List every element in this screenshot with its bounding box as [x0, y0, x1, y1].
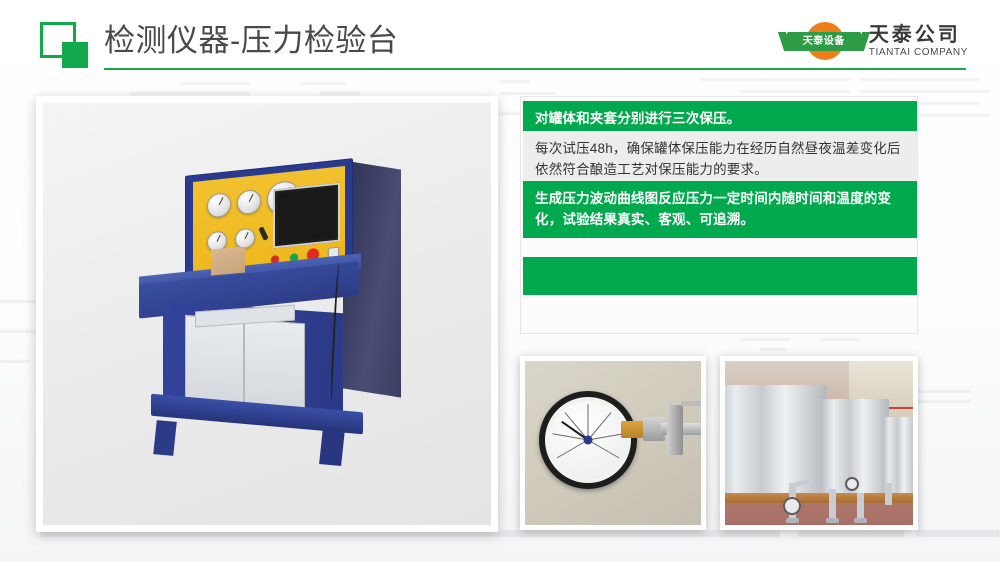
machine-cabinet-door-split	[243, 319, 245, 403]
tank-leg	[829, 489, 836, 519]
square-filled-icon	[62, 42, 88, 68]
page-title: 检测仪器-压力检验台	[104, 20, 398, 62]
text-line-green-4-empty	[523, 257, 917, 295]
photo-pressure-gauge	[520, 356, 706, 530]
machine-test-specimen-box	[211, 247, 245, 276]
tank-foot	[854, 518, 867, 523]
tank-foot	[786, 518, 799, 523]
brand-name-cn: 天泰公司	[869, 25, 968, 45]
tank-pressure-gauge-1	[783, 497, 801, 515]
text-line-grey-2: 每次试压48h，确保罐体保压能力在经历自然昼夜温差变化后依然符合酿造工艺对保压能…	[523, 131, 917, 188]
photo-scene	[725, 361, 913, 525]
tank-leg	[885, 483, 892, 505]
photo-scene	[525, 361, 701, 525]
bracket-hook	[681, 401, 706, 426]
main-photo-pressure-test-bench	[36, 96, 498, 532]
two-squares-logo-icon	[40, 22, 96, 70]
slide-canvas: 检测仪器-压力检验台 天泰设备 天泰公司 TIANTAI COMPANY	[0, 0, 1000, 562]
slide-header: 检测仪器-压力检验台 天泰设备 天泰公司 TIANTAI COMPANY	[0, 0, 1000, 78]
tank-1	[720, 385, 827, 503]
brand-ribbon-label: 天泰设备	[787, 32, 861, 51]
photo-stainless-tanks	[720, 356, 918, 530]
pressure-gauge-dial	[539, 391, 637, 489]
tank-leg	[857, 493, 864, 519]
title-underline-rule	[104, 68, 966, 70]
tank-foot	[826, 518, 839, 523]
brand-name-en: TIANTAI COMPANY	[869, 48, 968, 58]
gauge-hub	[584, 436, 593, 445]
panel-lever-1[interactable]	[258, 226, 268, 241]
text-line-green-3: 生成压力波动曲线图反应压力一定时间内随时间和温度的变化，试验结果真实、客观、可追…	[523, 181, 917, 238]
description-panel: 对罐体和夹套分别进行三次保压。 每次试压48h，确保罐体保压能力在经历自然昼夜温…	[520, 96, 918, 334]
brand-logo: 天泰设备 天泰公司 TIANTAI COMPANY	[787, 18, 968, 64]
photo-scene	[43, 103, 491, 525]
machine-lcd-screen	[273, 182, 340, 248]
panel-gauge-1	[207, 192, 231, 219]
brand-badge-icon: 天泰设备	[787, 20, 861, 62]
machine-cabinet-doors	[185, 315, 305, 409]
brand-text-block: 天泰公司 TIANTAI COMPANY	[869, 25, 968, 58]
panel-gauge-2	[237, 189, 261, 216]
tank-copper-band	[720, 493, 827, 503]
tank-pressure-gauge-2	[845, 477, 859, 491]
machine-leg-right	[319, 428, 345, 466]
machine-leg-left	[153, 420, 177, 456]
